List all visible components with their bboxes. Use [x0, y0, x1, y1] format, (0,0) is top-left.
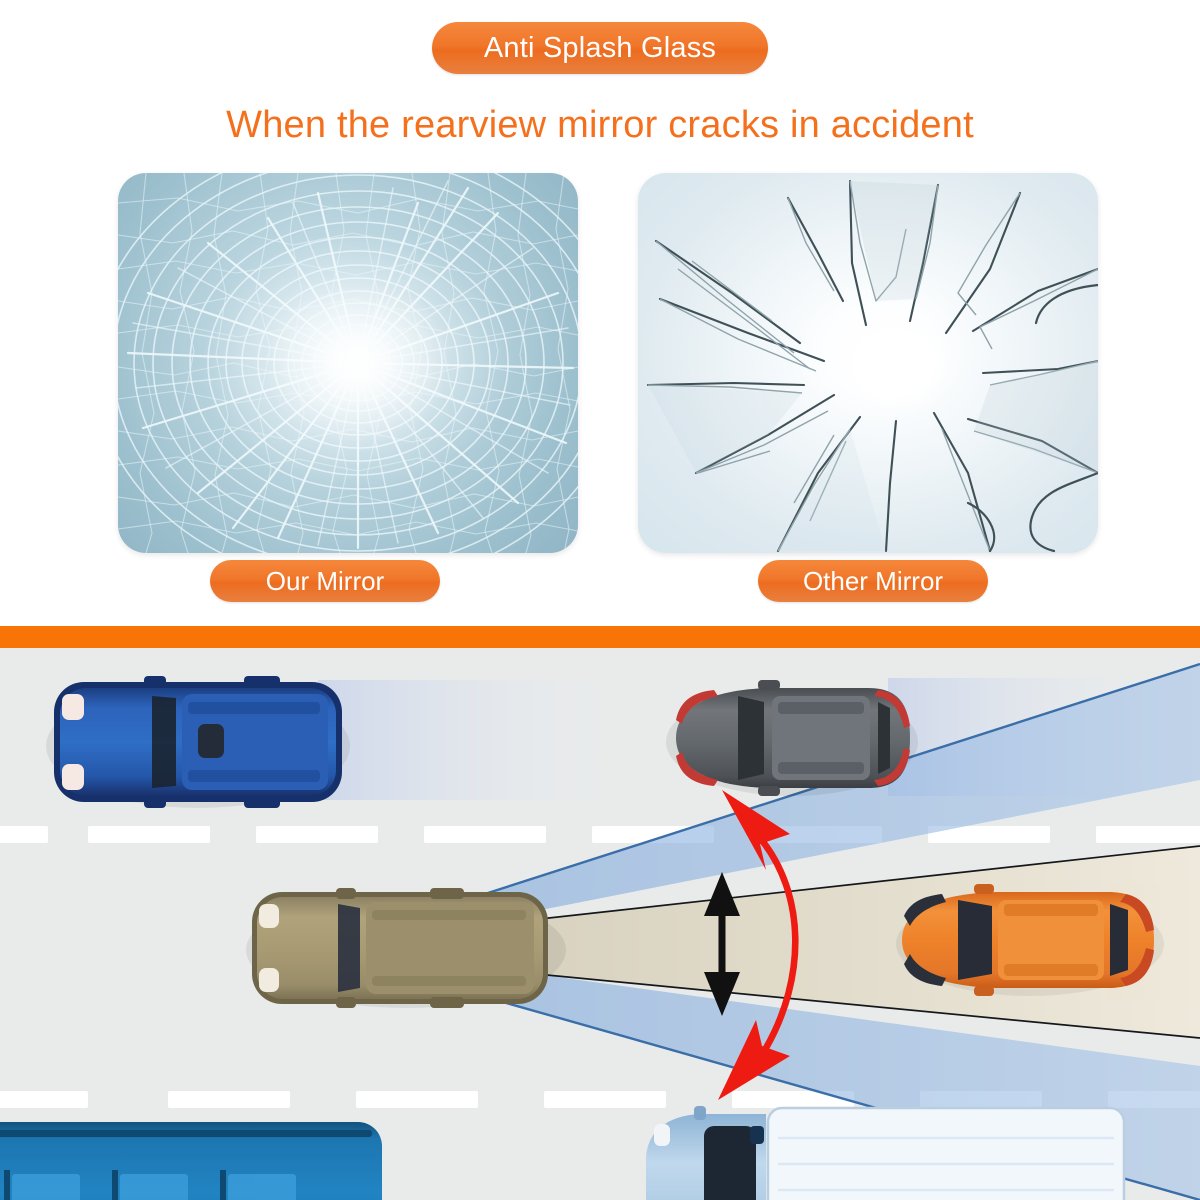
our-mirror-label-badge: Our Mirror	[210, 560, 440, 602]
vehicle-gray-sedan	[666, 680, 918, 796]
impact-hole	[800, 293, 983, 445]
product-infographic: Anti Splash Glass When the rearview mirr…	[0, 0, 1200, 1200]
page-subtitle: When the rearview mirror cracks in accid…	[0, 104, 1200, 147]
our-mirror-image-panel	[118, 173, 578, 553]
glass-comparison-section: Anti Splash Glass When the rearview mirr…	[0, 0, 1200, 620]
other-mirror-image-panel	[638, 173, 1098, 553]
road-scene-svg	[0, 648, 1200, 1200]
vehicle-host-beige	[246, 888, 566, 1008]
vehicle-blue-bus	[0, 1122, 382, 1200]
blue-truck	[646, 1106, 1124, 1200]
other-mirror-label-badge: Other Mirror	[758, 560, 988, 602]
section-divider-bar	[0, 626, 1200, 648]
shard-glass-crack-pattern	[638, 173, 1098, 553]
motion-trail-blue	[318, 680, 648, 800]
title-badge: Anti Splash Glass	[432, 22, 768, 74]
vehicle-orange-sedan	[896, 884, 1164, 996]
vehicle-blue-suv	[46, 676, 350, 808]
tempered-glass-crack-pattern	[118, 173, 578, 553]
lane-markings-upper	[0, 826, 1200, 843]
field-of-view-diagram: Our rearview mirror Traditional mirror O…	[0, 648, 1200, 1200]
